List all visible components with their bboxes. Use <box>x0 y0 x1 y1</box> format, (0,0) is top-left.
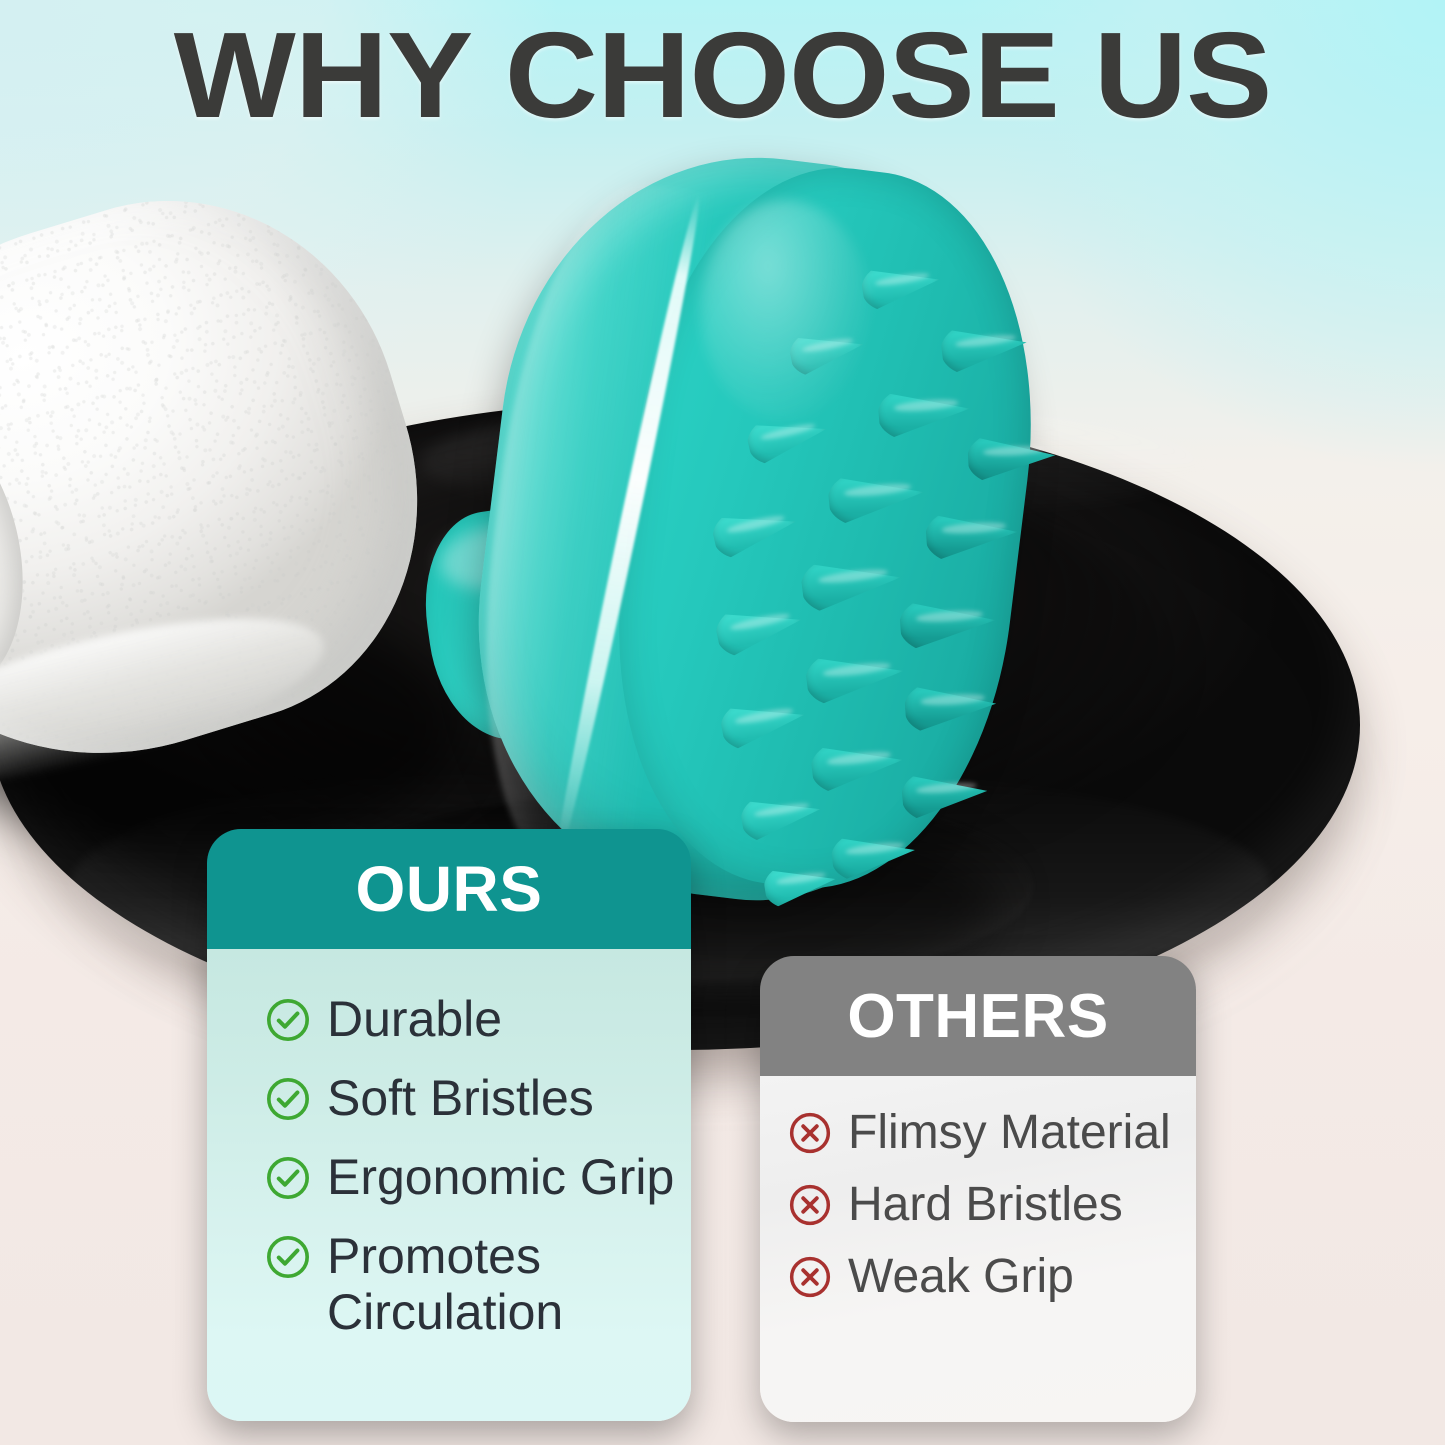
check-circle-icon <box>265 1155 311 1206</box>
bristle-cone <box>965 427 1056 488</box>
bristle-cone <box>825 462 927 532</box>
infographic-canvas: OURS DurableSoft BristlesErgonomic GripP… <box>0 0 1445 1445</box>
feature-label: Soft Bristles <box>327 1070 594 1126</box>
check-circle-icon <box>265 997 311 1048</box>
bristle-cone <box>903 675 999 739</box>
bristle-cone <box>711 592 807 665</box>
others-title: OTHERS <box>847 981 1108 1052</box>
bristle-cone <box>875 380 972 446</box>
feature-label: Durable <box>327 991 502 1047</box>
bristle-cone <box>798 547 905 621</box>
feature-row: Hard Bristles <box>788 1178 1196 1232</box>
ours-card-header: OURS <box>207 829 691 949</box>
x-circle-icon <box>788 1183 832 1232</box>
ours-feature-list: DurableSoft BristlesErgonomic GripPromot… <box>207 949 691 1421</box>
bristle-cone <box>737 784 825 849</box>
bristle-cone <box>707 496 801 568</box>
bristle-cone <box>716 688 809 757</box>
bristle-cone <box>937 315 1029 381</box>
bristle-cone <box>828 823 918 887</box>
feature-row: Promotes Circulation <box>265 1228 691 1340</box>
feature-label: Flimsy Material <box>848 1106 1171 1160</box>
feature-row: Soft Bristles <box>265 1070 691 1127</box>
scalp-massager-product <box>400 140 1100 930</box>
bristle-cone <box>897 590 997 657</box>
others-comparison-card: OTHERS Flimsy MaterialHard BristlesWeak … <box>760 956 1196 1422</box>
x-circle-icon <box>788 1111 832 1160</box>
check-circle-icon <box>265 1234 311 1285</box>
feature-row: Ergonomic Grip <box>265 1149 691 1206</box>
feature-label: Promotes Circulation <box>327 1228 691 1340</box>
feature-row: Flimsy Material <box>788 1106 1196 1160</box>
feature-label: Hard Bristles <box>848 1178 1123 1232</box>
x-circle-icon <box>788 1255 832 1304</box>
page-title: WHY CHOOSE US <box>0 14 1445 136</box>
feature-label: Ergonomic Grip <box>327 1149 674 1205</box>
bristle-cone <box>807 731 905 800</box>
ours-title: OURS <box>356 852 543 926</box>
feature-label: Weak Grip <box>848 1250 1074 1304</box>
product-gloss-highlight <box>700 200 870 420</box>
ours-comparison-card: OURS DurableSoft BristlesErgonomic GripP… <box>207 829 691 1421</box>
bristle-cone <box>802 641 907 712</box>
bristle-cone <box>899 763 990 826</box>
bristle-cone <box>924 503 1020 567</box>
others-card-header: OTHERS <box>760 956 1196 1076</box>
feature-row: Weak Grip <box>788 1250 1196 1304</box>
bristle-cone <box>858 254 943 318</box>
others-feature-list: Flimsy MaterialHard BristlesWeak Grip <box>760 1076 1196 1422</box>
feature-row: Durable <box>265 991 691 1048</box>
check-circle-icon <box>265 1076 311 1127</box>
